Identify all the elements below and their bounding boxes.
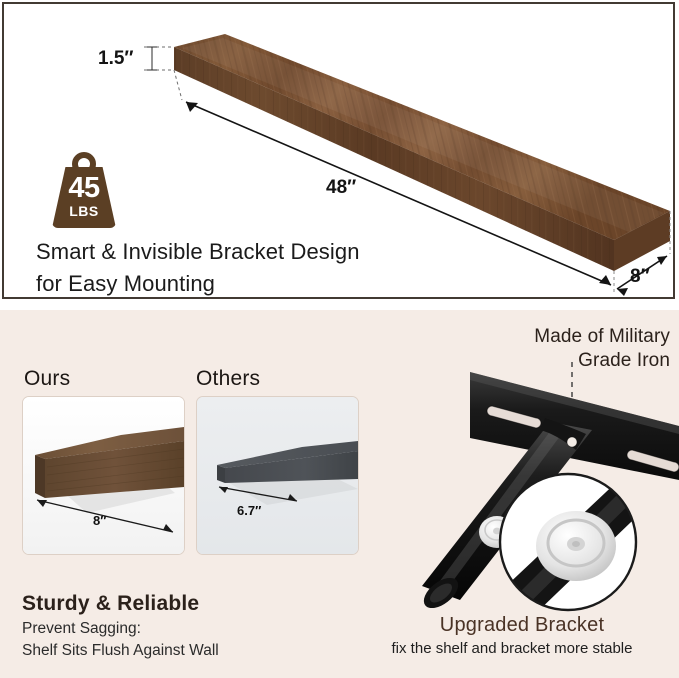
- product-infographic: 45 LBS Smart & Invisible Bracket Design …: [0, 0, 679, 678]
- sturdy-line-1: Prevent Sagging:: [22, 618, 322, 640]
- ours-card: 8″: [22, 396, 185, 555]
- badge-unit: LBS: [52, 204, 116, 218]
- sturdy-line-2: Shelf Sits Flush Against Wall: [22, 640, 322, 662]
- others-shelf-graphic: 6.7″: [197, 397, 358, 554]
- iron-label-line-2: Grade Iron: [420, 349, 670, 373]
- bracket-wall-plate: [470, 372, 679, 480]
- depth-label: 8″: [630, 266, 650, 288]
- svg-text:8″: 8″: [93, 513, 106, 528]
- others-label: Others: [196, 367, 260, 391]
- svg-text:6.7″: 6.7″: [237, 503, 261, 518]
- iron-label: Made of Military Grade Iron: [420, 325, 670, 373]
- bracket-subtitle: fix the shelf and bracket more stable: [349, 640, 675, 657]
- length-label: 48″: [326, 177, 356, 199]
- top-panel: 45 LBS Smart & Invisible Bracket Design …: [2, 2, 675, 299]
- thickness-label: 1.5″: [98, 48, 134, 70]
- badge-value: 45: [52, 174, 116, 203]
- top-headline: Smart & Invisible Bracket Design for Eas…: [36, 236, 506, 299]
- ours-shelf-graphic: 8″: [23, 397, 184, 554]
- ours-label: Ours: [24, 367, 70, 391]
- iron-label-line-1: Made of Military: [420, 325, 670, 349]
- weight-badge-icon: 45 LBS: [52, 152, 116, 228]
- sturdy-description: Prevent Sagging: Shelf Sits Flush Agains…: [22, 618, 322, 662]
- sturdy-heading: Sturdy & Reliable: [22, 592, 199, 616]
- headline-line-2: for Easy Mounting: [36, 268, 506, 299]
- headline-line-1: Smart & Invisible Bracket Design: [36, 236, 506, 268]
- bracket-heading: Upgraded Bracket: [369, 614, 675, 637]
- others-card: 6.7″: [196, 396, 359, 555]
